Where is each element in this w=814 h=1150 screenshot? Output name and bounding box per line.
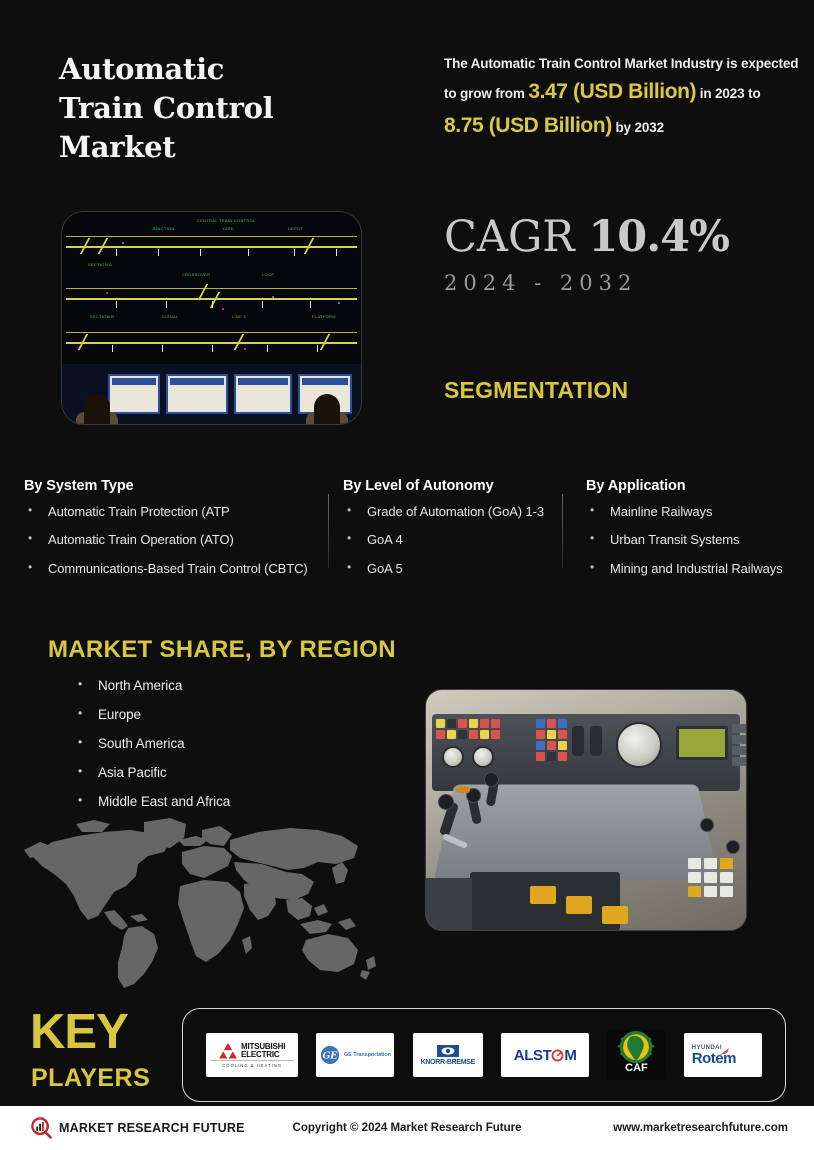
alstom-logo: ALST M (501, 1033, 589, 1077)
ge-label: GE Transportation (344, 1052, 391, 1058)
column-divider (328, 494, 329, 568)
page-title-line-1: Automatic (59, 50, 419, 89)
list-item: GoA 4 (343, 533, 573, 547)
page-title-line-2: Train Control (59, 89, 419, 128)
list-item: Automatic Train Protection (ATP (24, 505, 334, 519)
key-players-players-label: PLAYERS (31, 1066, 150, 1091)
list-item: Middle East and Africa (74, 794, 230, 809)
caf-logo: CAF (607, 1030, 665, 1080)
list-item: GoA 5 (343, 562, 573, 576)
list-item: Urban Transit Systems (586, 533, 811, 547)
list-item: North America (74, 678, 230, 693)
cagr-label: CAGR (444, 212, 575, 262)
list-item: Grade of Automation (GoA) 1-3 (343, 505, 573, 519)
market-share-heading: MARKET SHARE, BY REGION (48, 636, 396, 664)
segment-heading: By Application (586, 478, 811, 494)
list-item: Asia Pacific (74, 765, 230, 780)
intro-line-3-post: by 2032 (615, 120, 664, 135)
mitsubishi-tagline: COOLING & HEATING (210, 1060, 294, 1068)
knorr-bremse-logo: KNORR-BREMSE (413, 1033, 483, 1077)
ge-monogram-icon: GE (320, 1045, 340, 1065)
segment-list: Grade of Automation (GoA) 1-3 GoA 4 GoA … (343, 505, 573, 576)
knorr-bremse-wordmark: KNORR-BREMSE (421, 1059, 475, 1066)
mitsubishi-diamond-icon (219, 1043, 237, 1059)
signalling-board: SECTION A JUNCTION YARD DEPOT SECTION B … (62, 212, 361, 364)
cagr-year-range: 2024 - 2032 (444, 271, 729, 295)
svg-text:GE: GE (323, 1051, 339, 1062)
key-players-logo-box: MITSUBISHI ELECTRIC COOLING & HEATING GE… (182, 1008, 786, 1102)
knorr-bremse-emblem-icon (437, 1045, 459, 1057)
page-title: By System Type AutomaticTrain ControlMar… (59, 50, 419, 167)
train-cab-image (426, 690, 746, 930)
segment-list: Automatic Train Protection (ATP Automati… (24, 505, 334, 576)
cagr-value: 10.4% (588, 212, 729, 262)
list-item: Automatic Train Operation (ATO) (24, 533, 334, 547)
alstom-swirl-icon (551, 1049, 564, 1062)
infographic-page: By System Type AutomaticTrain ControlMar… (0, 0, 814, 1150)
intro-paragraph: The Automatic Train Control Market Indus… (444, 53, 800, 143)
segment-column-level-of-autonomy: By Level of Autonomy Grade of Automation… (343, 478, 573, 590)
control-room-image: SECTION A JUNCTION YARD DEPOT SECTION B … (62, 212, 361, 424)
list-item: South America (74, 736, 230, 751)
ge-transportation-logo: GE GE Transportation (316, 1033, 394, 1077)
rotem-accent-icon (720, 1048, 730, 1056)
region-list: North America Europe South America Asia … (74, 678, 230, 823)
key-players-key-label: KEY (30, 1008, 128, 1057)
footer-brand-name: MARKET RESEARCH FUTURE (59, 1121, 245, 1135)
intro-value-2032: 8.75 (USD Billion) (444, 114, 612, 137)
mitsubishi-electric-logo: MITSUBISHI ELECTRIC COOLING & HEATING (206, 1033, 298, 1077)
segment-list: Mainline Railways Urban Transit Systems … (586, 505, 811, 576)
footer-logo: MARKET RESEARCH FUTURE (30, 1117, 245, 1139)
footer-website-url[interactable]: www.marketresearchfuture.com (613, 1122, 788, 1134)
hyundai-rotem-logo: HYUNDAI Rotem (684, 1033, 762, 1077)
alstom-wordmark-part1: ALST (514, 1047, 552, 1064)
world-map-silhouette (18, 812, 384, 990)
intro-line-2-post: in 2023 (700, 86, 745, 101)
cagr-headline: CAGR 10.4% (444, 216, 729, 259)
market-research-future-magnifier-icon (30, 1117, 52, 1139)
intro-line-1: The Automatic Train Control Market Indus… (444, 56, 798, 71)
list-item: Communications-Based Train Control (CBTC… (24, 562, 334, 576)
intro-line-2-pre: to grow from (444, 86, 525, 101)
segment-column-application: By Application Mainline Railways Urban T… (586, 478, 811, 590)
segment-column-system-type: By System Type Automatic Train Protectio… (24, 478, 334, 590)
column-divider (562, 494, 563, 568)
cab-dashboard (432, 714, 739, 791)
mitsubishi-secondary-text: ELECTRIC (241, 1051, 285, 1059)
alstom-wordmark-part2: M (564, 1047, 576, 1064)
segmentation-heading: SEGMENTATION (444, 377, 628, 404)
segment-heading: By System Type (24, 478, 334, 494)
segment-heading: By Level of Autonomy (343, 478, 573, 494)
cagr-block: CAGR 10.4% 2024 - 2032 (444, 216, 729, 295)
list-item: Mining and Industrial Railways (586, 562, 811, 576)
footer-copyright: Copyright © 2024 Market Research Future (293, 1122, 522, 1134)
intro-line-3-pre: to (748, 86, 760, 101)
intro-value-2023: 3.47 (USD Billion) (528, 80, 696, 103)
page-title-line-3: Market (59, 128, 419, 167)
footer-bar: MARKET RESEARCH FUTURE Copyright © 2024 … (0, 1106, 814, 1150)
operator-consoles (62, 364, 361, 424)
caf-wordmark: CAF (625, 1063, 648, 1074)
list-item: Europe (74, 707, 230, 722)
list-item: Mainline Railways (586, 505, 811, 519)
